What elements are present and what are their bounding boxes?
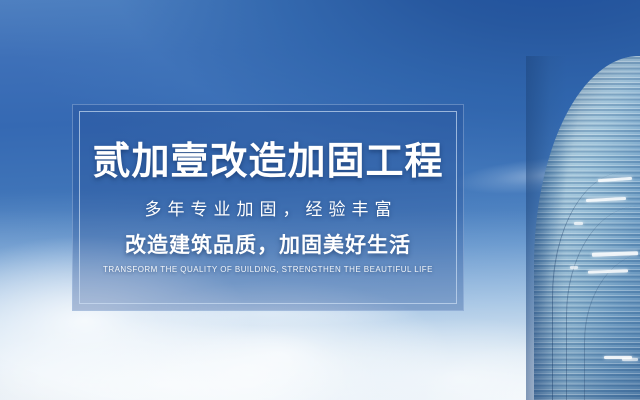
building-shadow (526, 56, 566, 400)
hero-banner: 贰加壹改造加固工程 多年专业加固，经验丰富 改造建筑品质，加固美好生活 TRAN… (0, 0, 640, 400)
headline-title: 贰加壹改造加固工程 (92, 142, 443, 180)
window-glint (622, 358, 638, 361)
english-tagline: TRANSFORM THE QUALITY OF BUILDING, STREN… (103, 266, 433, 274)
window-glint (570, 266, 578, 269)
panel-content: 贰加壹改造加固工程 多年专业加固，经验丰富 改造建筑品质，加固美好生活 TRAN… (73, 105, 463, 310)
subheadline-text: 多年专业加固，经验丰富 (139, 202, 398, 219)
window-glint (574, 222, 583, 225)
skyscraper-image (526, 56, 640, 400)
slogan-text: 改造建筑品质，加固美好生活 (125, 235, 411, 256)
hero-text-panel: 贰加壹改造加固工程 多年专业加固，经验丰富 改造建筑品质，加固美好生活 TRAN… (72, 104, 464, 311)
